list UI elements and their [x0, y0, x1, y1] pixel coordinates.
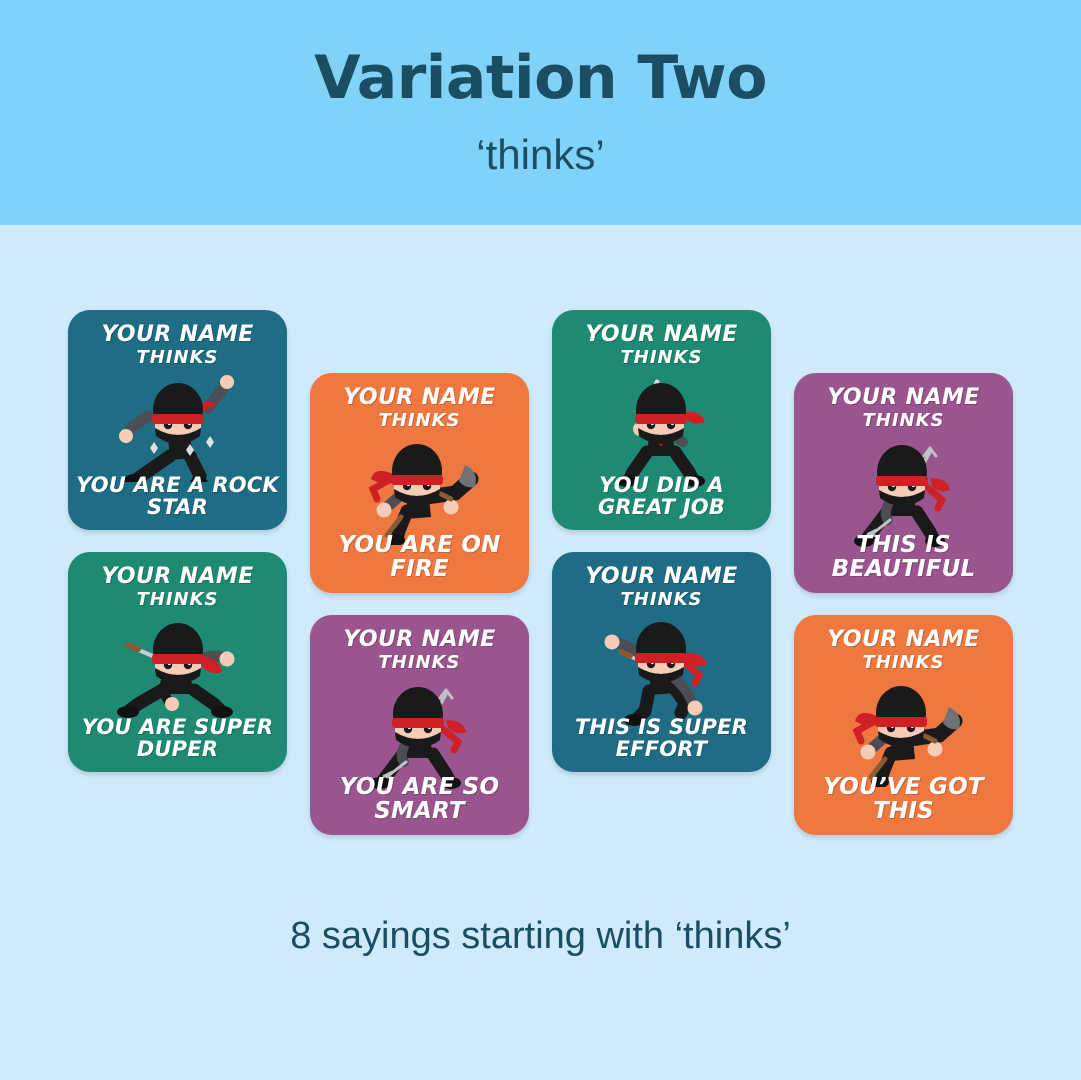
header-banner: Variation Two ‘thinks’: [0, 0, 1081, 225]
card-name-placeholder: YOUR NAME: [585, 565, 737, 588]
ninja-kicking-icon: [310, 445, 529, 537]
card-saying: YOU ARE ON FIRE: [316, 533, 523, 581]
saying-card-teal-7[interactable]: YOUR NAMETHINKS THIS IS SUPER EFFORT: [552, 552, 771, 772]
card-verb: THINKS: [620, 591, 702, 610]
saying-card-purple-6[interactable]: YOUR NAMETHINKS: [310, 615, 529, 835]
page-subtitle: ‘thinks’: [476, 134, 604, 176]
card-saying: YOU ARE A ROCK STAR: [74, 474, 281, 518]
card-verb: THINKS: [862, 654, 944, 673]
ninja-sword-icon: [552, 382, 771, 474]
saying-card-teal-1[interactable]: YOUR NAMETHINKS Y: [68, 310, 287, 530]
card-saying: YOU ARE SUPER DUPER: [74, 716, 281, 760]
card-verb: THINKS: [620, 349, 702, 368]
ninja-sai-icon: [794, 445, 1013, 537]
card-name-placeholder: YOUR NAME: [827, 628, 979, 651]
saying-card-orange-2[interactable]: YOUR NAMETHINKS YOU A: [310, 373, 529, 593]
saying-card-green-3[interactable]: YOUR NAMETHINKS YOU DID A GREA: [552, 310, 771, 530]
card-name-placeholder: YOUR NAME: [343, 628, 495, 651]
page-title: Variation Two: [314, 48, 767, 108]
saying-card-orange-8[interactable]: YOUR NAMETHINKS YOU’V: [794, 615, 1013, 835]
footer-caption: 8 sayings starting with ‘thinks’: [0, 915, 1081, 958]
card-name-placeholder: YOUR NAME: [585, 323, 737, 346]
card-verb: THINKS: [378, 654, 460, 673]
card-name-placeholder: YOUR NAME: [827, 386, 979, 409]
card-saying: YOU’VE GOT THIS: [800, 775, 1007, 823]
ninja-sai-icon: [310, 687, 529, 779]
ninja-flying-icon: [552, 624, 771, 716]
ninja-kicking-icon: [794, 687, 1013, 779]
card-saying: YOU ARE SO SMART: [316, 775, 523, 823]
card-saying: THIS IS SUPER EFFORT: [558, 716, 765, 760]
card-saying: YOU DID A GREAT JOB: [558, 474, 765, 518]
card-name-placeholder: YOUR NAME: [101, 565, 253, 588]
card-saying: THIS IS BEAUTIFUL: [800, 533, 1007, 581]
ninja-crouching-icon: [68, 624, 287, 716]
card-verb: THINKS: [136, 591, 218, 610]
card-name-placeholder: YOUR NAME: [101, 323, 253, 346]
card-verb: THINKS: [378, 412, 460, 431]
saying-card-purple-4[interactable]: YOUR NAMETHINKS: [794, 373, 1013, 593]
card-grid: YOUR NAMETHINKS Y: [0, 225, 1081, 905]
saying-card-green-5[interactable]: YOUR NAMETHINKS YOU A: [68, 552, 287, 772]
card-verb: THINKS: [862, 412, 944, 431]
card-name-placeholder: YOUR NAME: [343, 386, 495, 409]
ninja-jumping-icon: [68, 382, 287, 474]
card-verb: THINKS: [136, 349, 218, 368]
